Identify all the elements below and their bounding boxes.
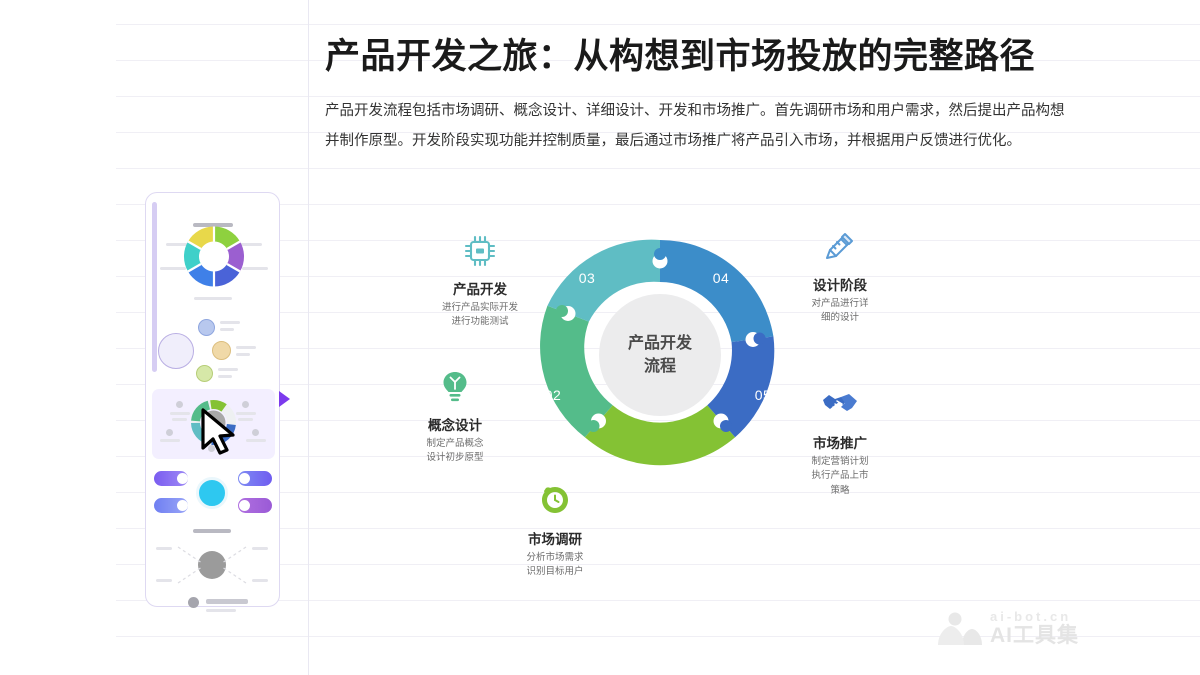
mouse-cursor-icon xyxy=(200,408,238,456)
callout-desc-line: 策略 xyxy=(765,484,915,498)
template-thumbnail[interactable] xyxy=(152,317,275,385)
callout-product-development: 产品开发 进行产品实际开发 进行功能测试 xyxy=(405,232,555,330)
slide-canvas: 产品开发之旅：从构想到市场投放的完整路径 产品开发流程包括市场调研、概念设计、详… xyxy=(0,0,1200,675)
guide-line xyxy=(116,24,1200,25)
pencil-ruler-icon xyxy=(765,228,915,266)
center-line-2: 流程 xyxy=(644,355,676,378)
callout-title: 市场调研 xyxy=(480,528,630,548)
watermark-name: AI工具集 xyxy=(990,625,1079,646)
segment-number-02: 02 xyxy=(545,387,562,403)
callout-title: 产品开发 xyxy=(405,278,555,298)
callout-desc-line: 分析市场需求 xyxy=(480,551,630,565)
page-description: 产品开发流程包括市场调研、概念设计、详细设计、开发和市场推广。首先调研市场和用户… xyxy=(325,97,1065,157)
template-thumbnail[interactable] xyxy=(152,597,275,617)
callout-design-stage: 设计阶段 对产品进行详 细的设计 xyxy=(765,228,915,326)
callout-title: 市场推广 xyxy=(765,432,915,452)
callout-desc-line: 制定营销计划 xyxy=(765,455,915,469)
watermark: ai-bot.cn AI工具集 xyxy=(938,610,1079,646)
callout-desc-line: 设计初步原型 xyxy=(380,451,530,465)
callout-title: 概念设计 xyxy=(380,414,530,434)
gallery-scrollbar[interactable] xyxy=(152,202,157,372)
process-donut-chart: 产品开发 流程 01 02 03 04 05 xyxy=(520,215,800,495)
lightbulb-icon xyxy=(380,368,530,406)
handshake-icon xyxy=(765,386,915,424)
callout-concept-design: 概念设计 制定产品概念 设计初步原型 xyxy=(380,368,530,466)
callout-desc-line: 识别目标用户 xyxy=(480,565,630,579)
callout-desc-line: 进行产品实际开发 xyxy=(405,301,555,315)
gear-ring-icon xyxy=(178,221,250,298)
callout-market-research: 市场调研 分析市场需求 识别目标用户 xyxy=(480,482,630,580)
callout-desc-line: 执行产品上市 xyxy=(765,469,915,483)
donut-center-label: 产品开发 流程 xyxy=(599,294,721,416)
watermark-domain: ai-bot.cn xyxy=(990,610,1079,623)
guide-line-vertical xyxy=(308,0,309,675)
clock-phone-icon xyxy=(480,482,630,520)
cpu-chip-icon xyxy=(405,232,555,270)
template-thumbnail[interactable] xyxy=(152,529,275,591)
callout-desc-line: 进行功能测试 xyxy=(405,315,555,329)
watermark-logo-icon xyxy=(938,611,982,645)
callout-desc-line: 制定产品概念 xyxy=(380,437,530,451)
segment-number-03: 03 xyxy=(579,270,596,286)
template-thumbnail[interactable] xyxy=(152,205,275,313)
play-triangle-icon[interactable] xyxy=(279,391,290,407)
callout-market-promotion: 市场推广 制定营销计划 执行产品上市 策略 xyxy=(765,386,915,498)
segment-number-01: 01 xyxy=(649,463,666,479)
page-title: 产品开发之旅：从构想到市场投放的完整路径 xyxy=(325,36,1085,78)
guide-line xyxy=(116,168,1200,169)
center-line-1: 产品开发 xyxy=(628,332,692,355)
template-gallery-panel[interactable] xyxy=(145,192,280,607)
template-thumbnail[interactable] xyxy=(152,467,275,523)
callout-desc-line: 对产品进行详 xyxy=(765,297,915,311)
callout-desc-line: 细的设计 xyxy=(765,311,915,325)
segment-number-04: 04 xyxy=(713,270,730,286)
callout-title: 设计阶段 xyxy=(765,274,915,294)
